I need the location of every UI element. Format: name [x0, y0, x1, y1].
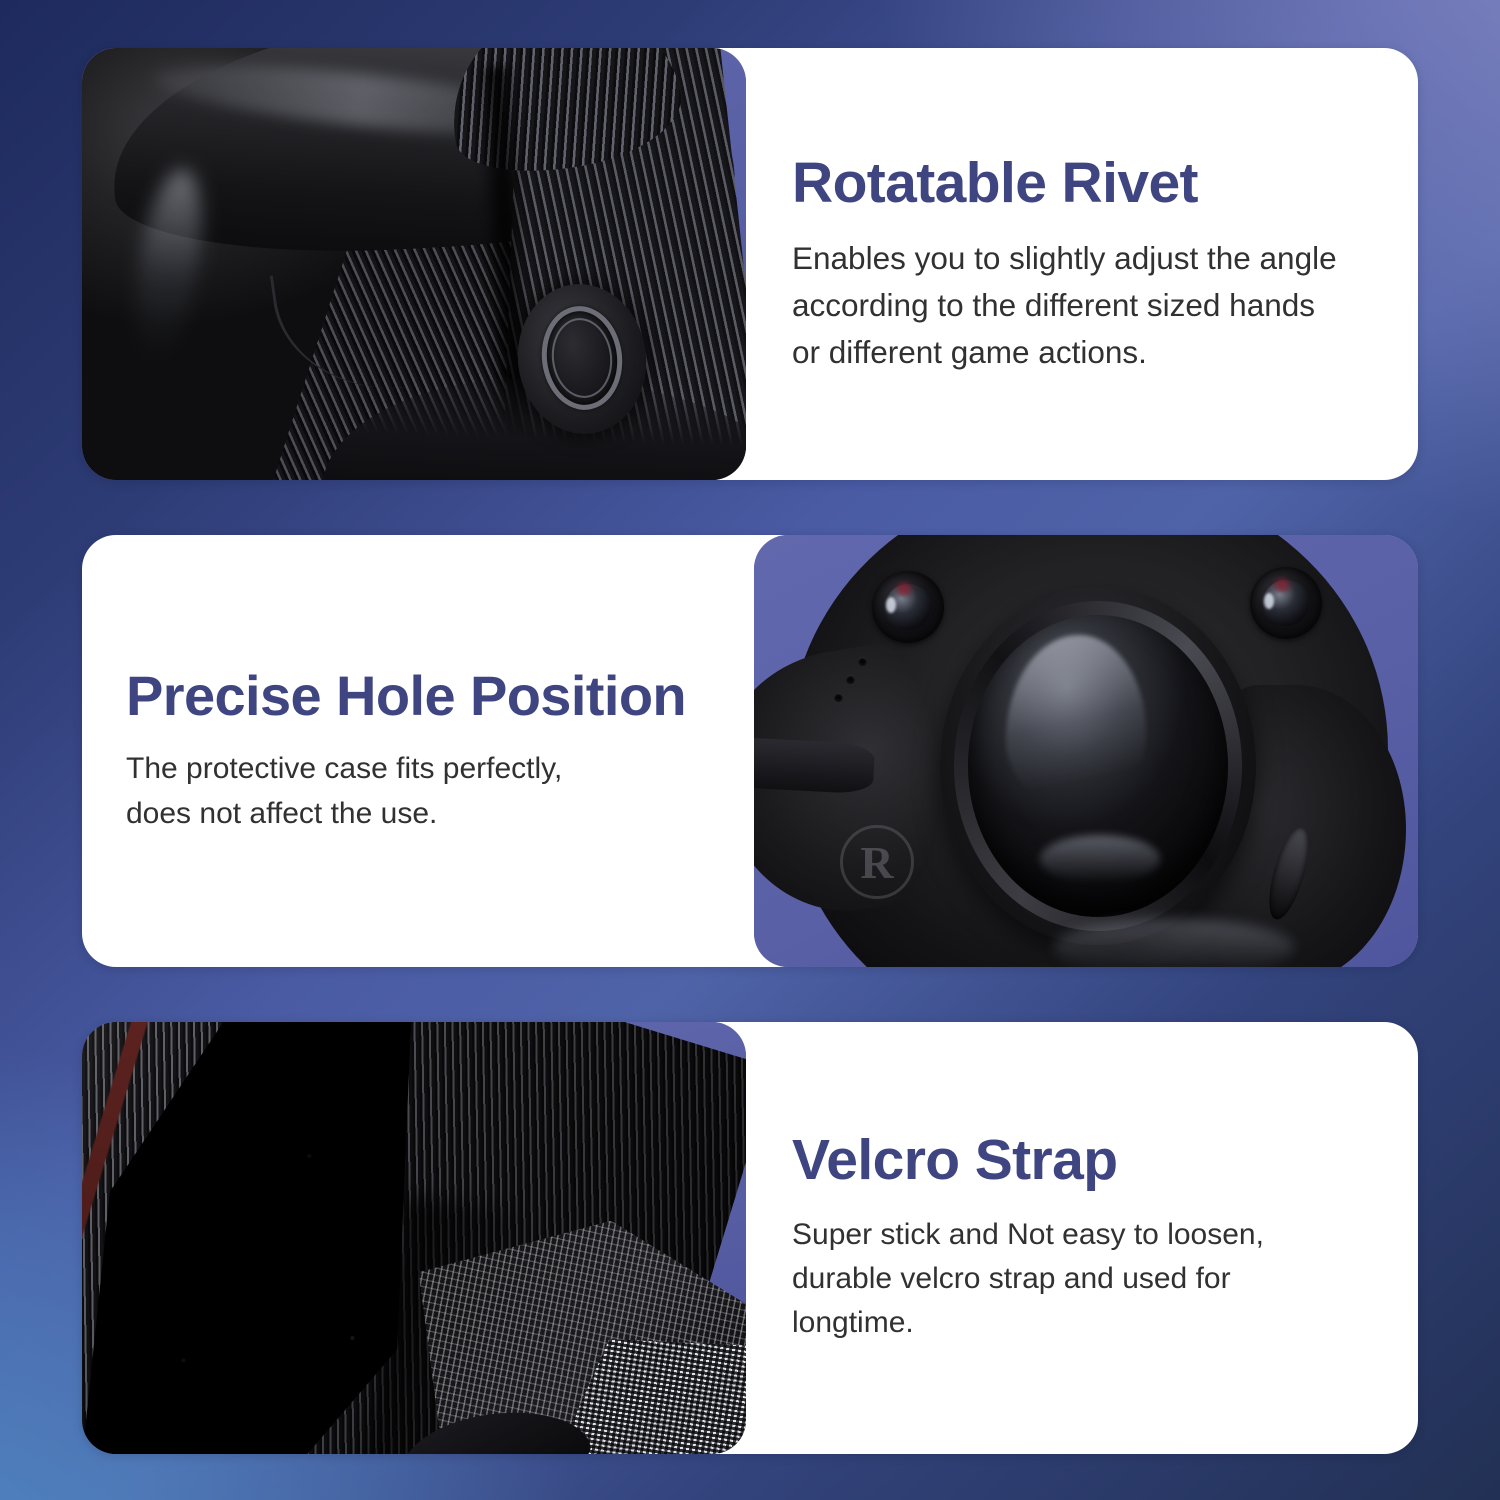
description-line: longtime. — [792, 1301, 1382, 1345]
microphone-hole-icon — [834, 693, 843, 702]
feature-text-velcro-strap: Velcro Strap Super stick and Not easy to… — [746, 1022, 1418, 1454]
description-line: Enables you to slightly adjust the angle — [792, 235, 1382, 282]
feature-photo-rotatable-rivet — [82, 48, 746, 480]
feature-photo-precise-hole-position: R — [754, 535, 1418, 967]
microphone-hole-icon — [858, 657, 867, 666]
bottom-highlight — [1054, 919, 1294, 967]
feature-card-rotatable-rivet: Rotatable Rivet Enables you to slightly … — [82, 48, 1418, 480]
feature-title: Precise Hole Position — [126, 666, 724, 725]
description-line: Super stick and Not easy to loosen, — [792, 1213, 1382, 1257]
feature-description: Super stick and Not easy to loosen, dura… — [792, 1213, 1382, 1346]
feature-description: Enables you to slightly adjust the angle… — [792, 235, 1382, 375]
feature-card-precise-hole-position: R Precise Hole Position The protective c… — [82, 535, 1418, 967]
feature-title: Velcro Strap — [792, 1130, 1382, 1190]
feature-description: The protective case fits perfectly, does… — [126, 747, 724, 836]
camera-specular — [1264, 593, 1274, 609]
feature-text-rotatable-rivet: Rotatable Rivet Enables you to slightly … — [746, 48, 1418, 480]
description-line: The protective case fits perfectly, — [126, 747, 724, 791]
camera-sensor-icon — [872, 571, 944, 643]
description-line: does not affect the use. — [126, 792, 724, 836]
strap-attachment — [754, 738, 875, 795]
right-hand-marking: R — [840, 825, 914, 899]
microphone-hole-icon — [846, 675, 855, 684]
camera-tint — [894, 581, 914, 597]
description-line: durable velcro strap and used for — [792, 1257, 1382, 1301]
camera-tint — [1272, 577, 1292, 593]
feature-card-velcro-strap: Velcro Strap Super stick and Not easy to… — [82, 1022, 1418, 1454]
lens-lower-highlight — [1040, 835, 1160, 883]
feature-photo-velcro-strap — [82, 1022, 746, 1454]
camera-sensor-icon — [1250, 567, 1322, 639]
feature-text-precise-hole-position: Precise Hole Position The protective cas… — [82, 535, 754, 967]
infographic-page: Rotatable Rivet Enables you to slightly … — [0, 0, 1500, 1500]
description-line: or different game actions. — [792, 329, 1382, 376]
camera-specular — [886, 597, 896, 613]
description-line: according to the different sized hands — [792, 282, 1382, 329]
feature-title: Rotatable Rivet — [792, 153, 1382, 213]
